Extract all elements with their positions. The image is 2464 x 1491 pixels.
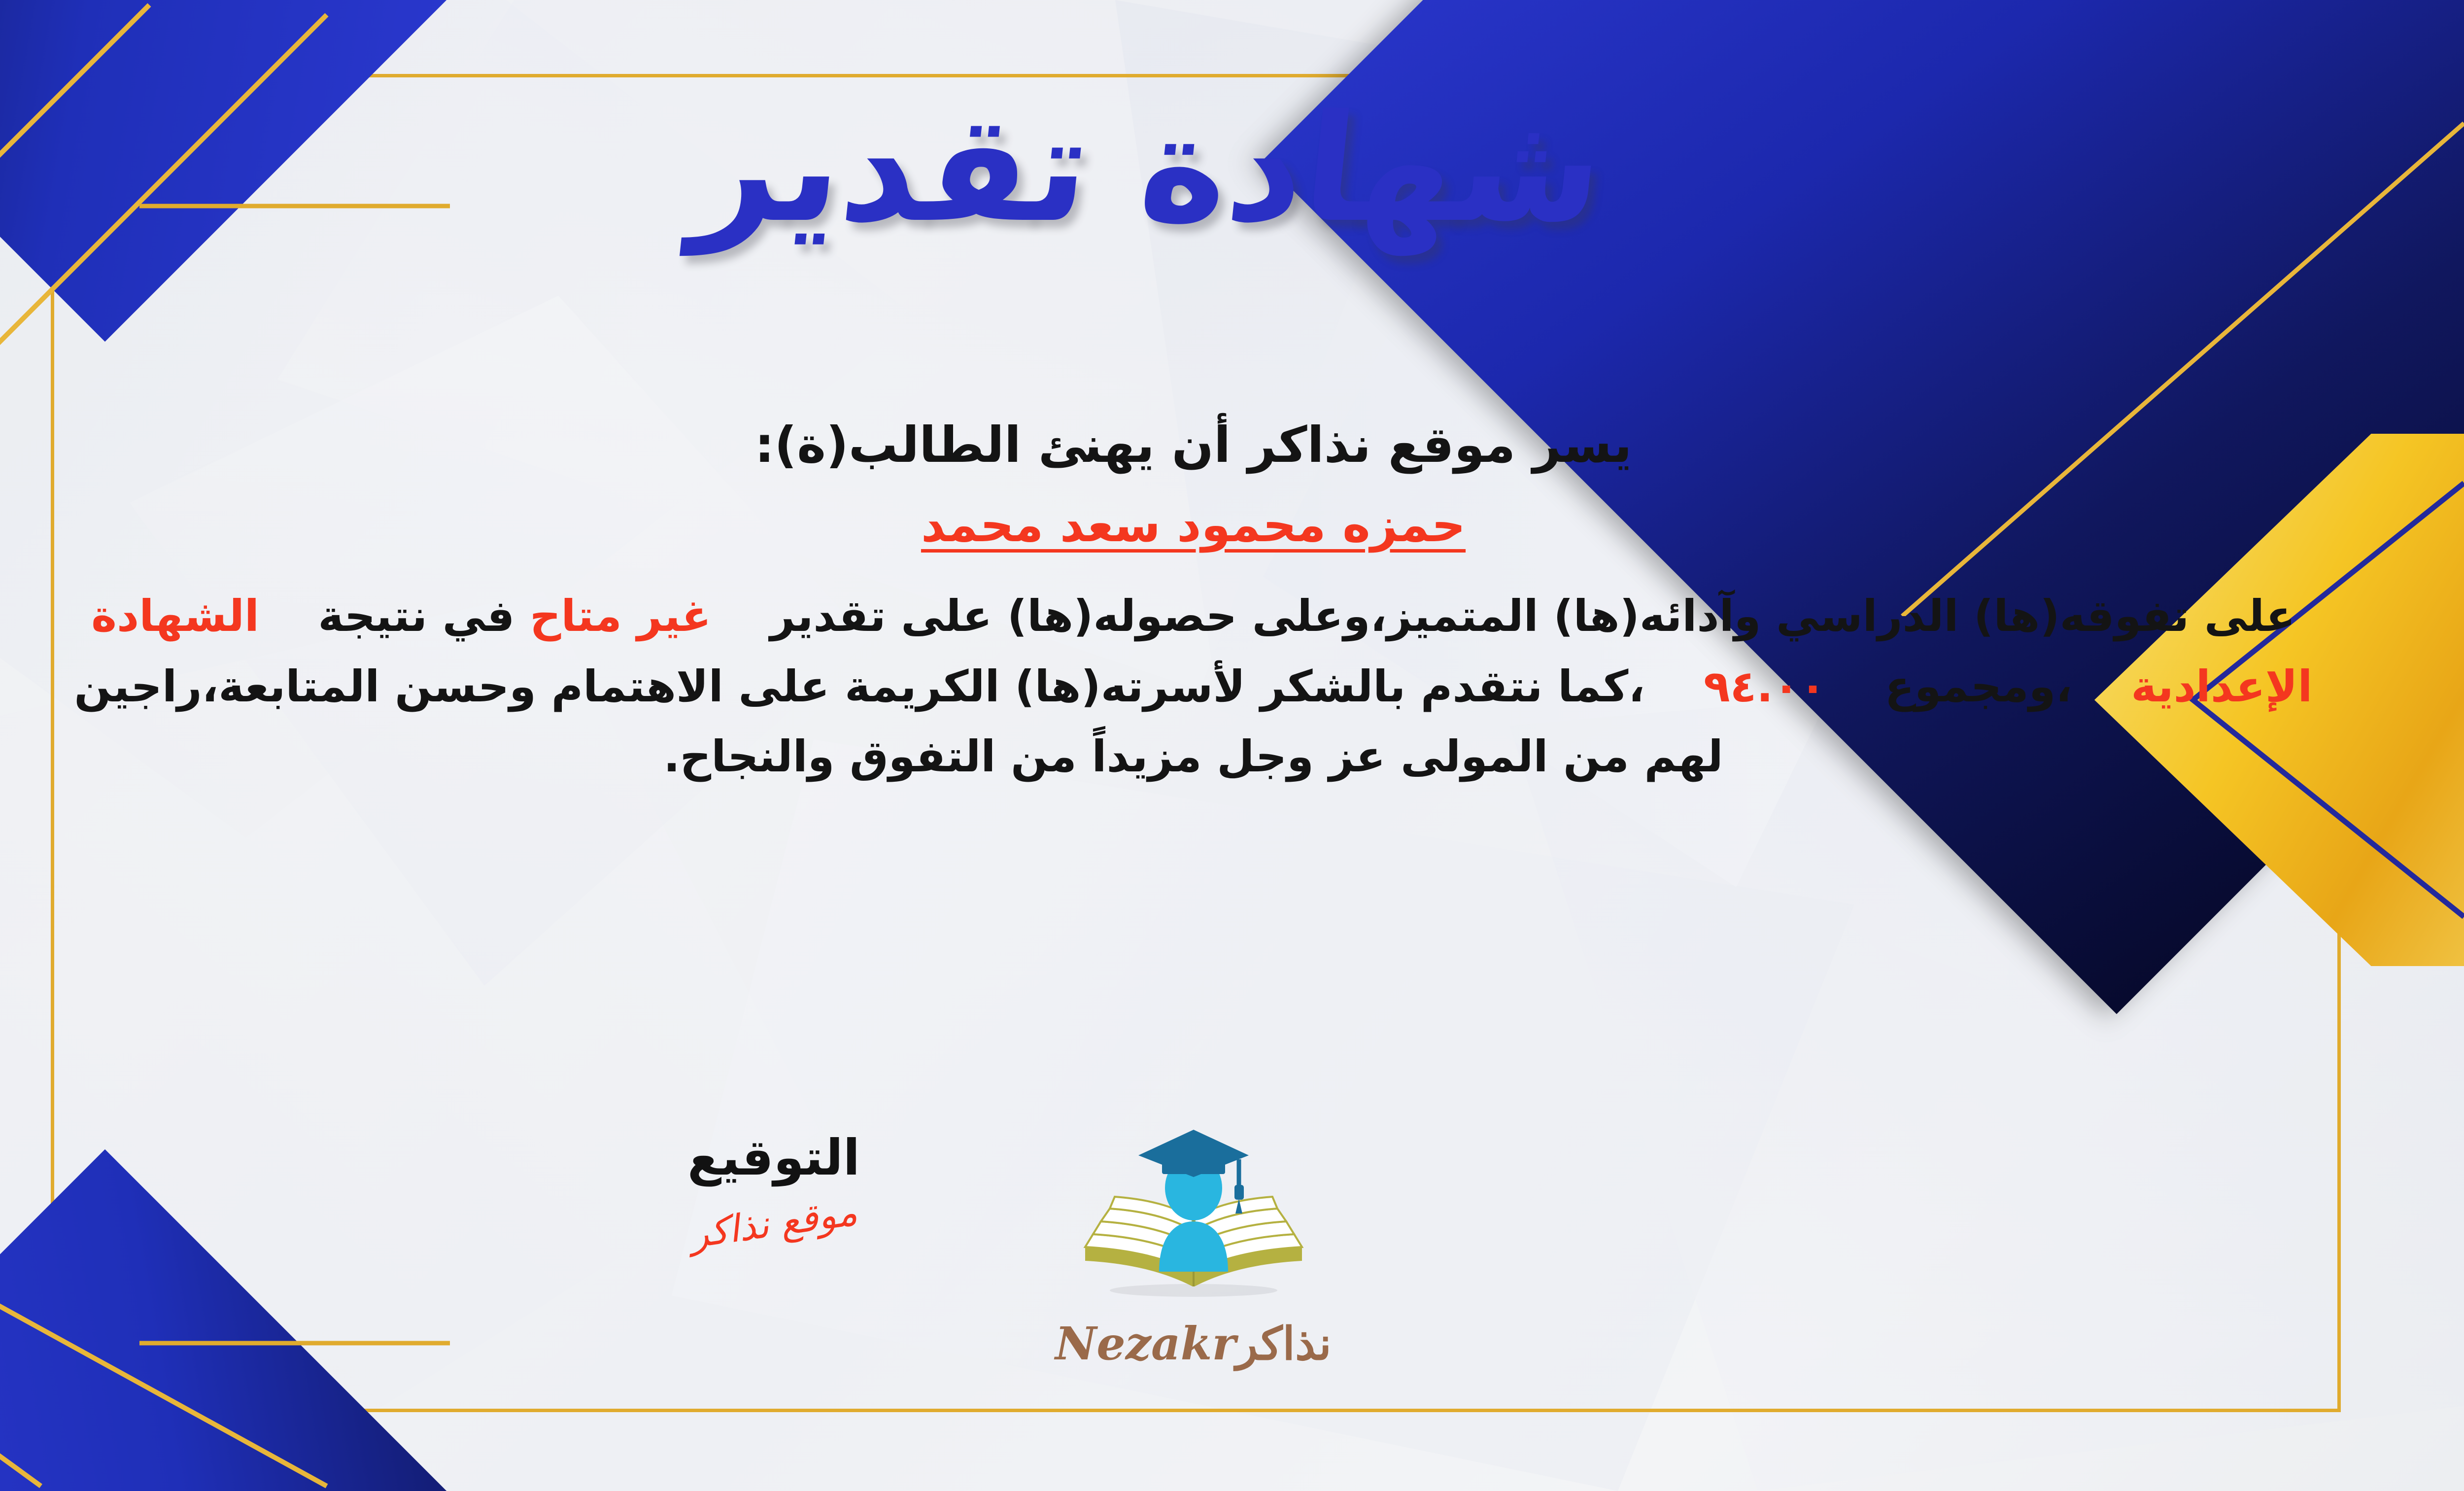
- grade-value: غير متاح: [530, 590, 711, 641]
- citation-paragraph: على تفوقه(ها) الدراسي وآدائه(ها) المتميز…: [70, 581, 2316, 792]
- student-name: حمزه محمود سعد محمد: [70, 497, 2316, 553]
- signature-label: التوقيع: [621, 1129, 926, 1186]
- certificate-page: شهادة تقدير يسر موقع نذاكر أن يهنئ الطال…: [0, 0, 2464, 1491]
- total-score: ٩٤.٠٠: [1704, 661, 1826, 712]
- logo-wordmark-arabic: نذاكر: [1236, 1317, 1332, 1370]
- certificate-body: يسر موقع نذاكر أن يهنئ الطالب(ة): حمزه م…: [70, 414, 2316, 792]
- signature-mark: موقع نذاكر: [687, 1190, 860, 1257]
- certificate-footer: التوقيع موقع نذاكر: [70, 1129, 2316, 1405]
- citation-part-3: ،ومجموع: [1885, 661, 2072, 712]
- logo-wordmark-latin: Nezakr: [1055, 1317, 1236, 1370]
- citation-part-4: ،كما نتقدم بالشكر لأسرته(ها) الكريمة على…: [74, 661, 1723, 782]
- logo-wordmark: نذاكرNezakr: [1006, 1317, 1381, 1370]
- lead-sentence: يسر موقع نذاكر أن يهنئ الطالب(ة):: [70, 414, 2316, 476]
- citation-part-1: على تفوقه(ها) الدراسي وآدائه(ها) المتميز…: [770, 590, 2295, 641]
- citation-part-2: في نتيجة: [318, 590, 514, 641]
- page-title: شهادة تقدير: [687, 91, 1611, 246]
- brand-logo: نذاكرNezakr: [1006, 1124, 1381, 1370]
- title-area: شهادة تقدير: [0, 91, 2464, 246]
- graduate-book-logo-icon: [1065, 1124, 1322, 1321]
- signature-block: التوقيع موقع نذاكر: [621, 1129, 926, 1245]
